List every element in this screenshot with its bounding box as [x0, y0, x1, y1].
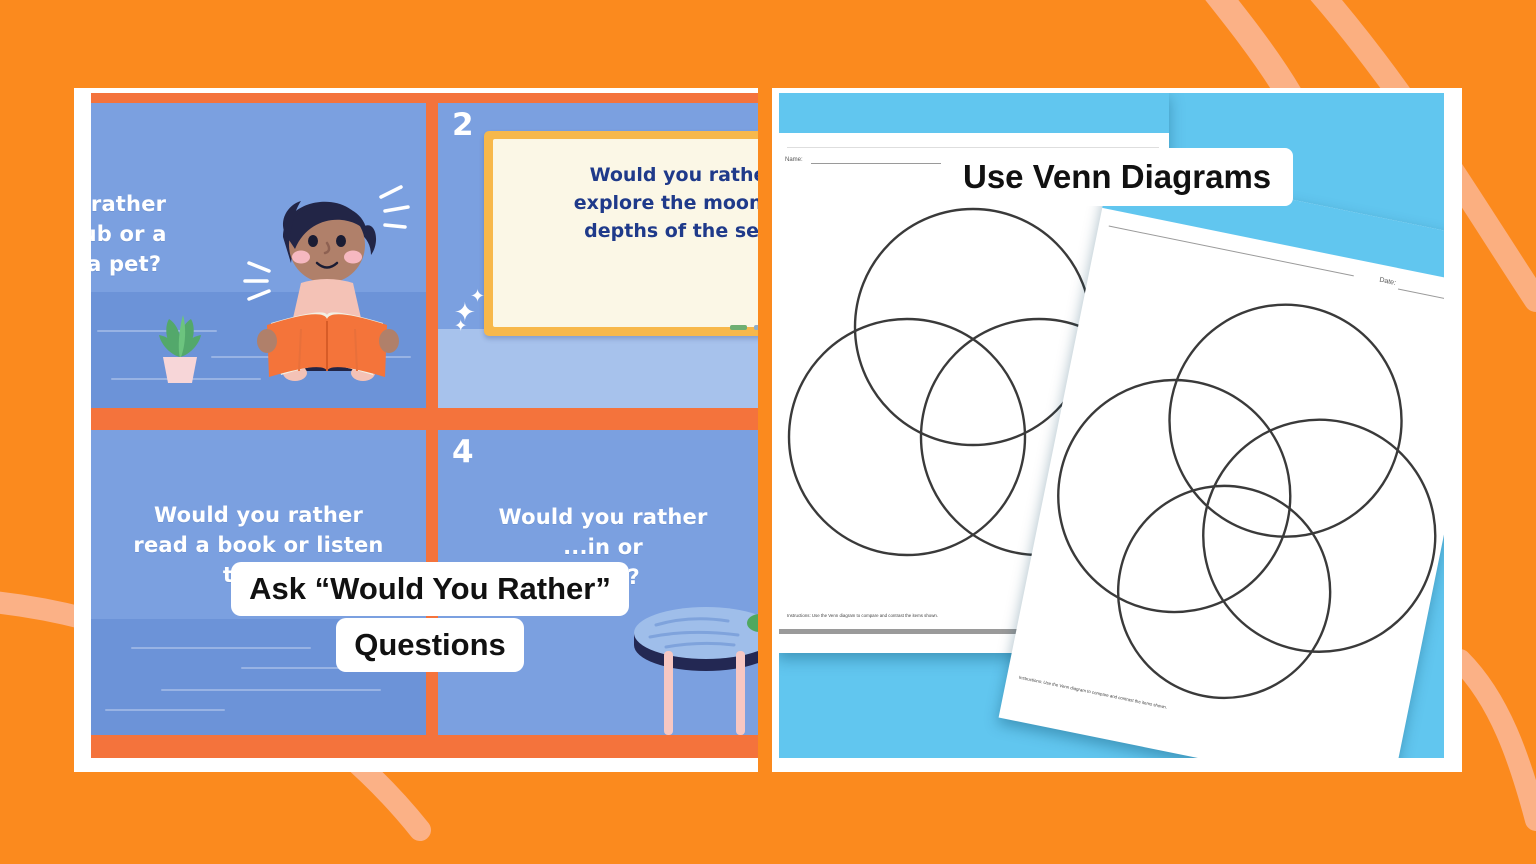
worksheet-footnote: Instructions: Use the Venn diagram to co… [787, 613, 938, 618]
slide-floor [438, 329, 758, 408]
marker-icon [754, 325, 758, 330]
collage-slide-1: a rather cub or a r a pet? [91, 103, 426, 408]
slide-2-question: Would you rathe explore the moon o depth… [492, 161, 758, 245]
sparkle-icon: ✦ [454, 319, 467, 335]
slide-4-number: 4 [452, 434, 474, 470]
slide-2-number: 2 [452, 107, 474, 143]
marker-icon [730, 325, 747, 330]
sparkle-icon: ✦ [470, 287, 485, 305]
floor-line [161, 689, 381, 691]
label-use-venn-diagrams: Use Venn Diagrams [941, 148, 1293, 206]
potted-plant-icon [153, 309, 207, 387]
label-line-2: Questions [336, 618, 524, 672]
name-field-label: Name: [785, 157, 803, 163]
child-reading-illustration [235, 175, 425, 395]
label-ask-would-you-rather: Ask “Would You Rather” Questions [180, 562, 680, 672]
floor-line [105, 709, 225, 711]
slide-1-question: a rather cub or a r a pet? [91, 189, 249, 279]
collage-slide-2: 2 ✦ ✦ ✦ Would you rathe explore the moon… [438, 103, 758, 408]
date-field-line [1398, 288, 1444, 306]
worksheet-header-band [779, 93, 1169, 133]
whiteboard: Would you rathe explore the moon o depth… [484, 131, 758, 336]
label-line-1: Ask “Would You Rather” [231, 562, 629, 616]
date-field-label: Date: [1379, 277, 1397, 287]
